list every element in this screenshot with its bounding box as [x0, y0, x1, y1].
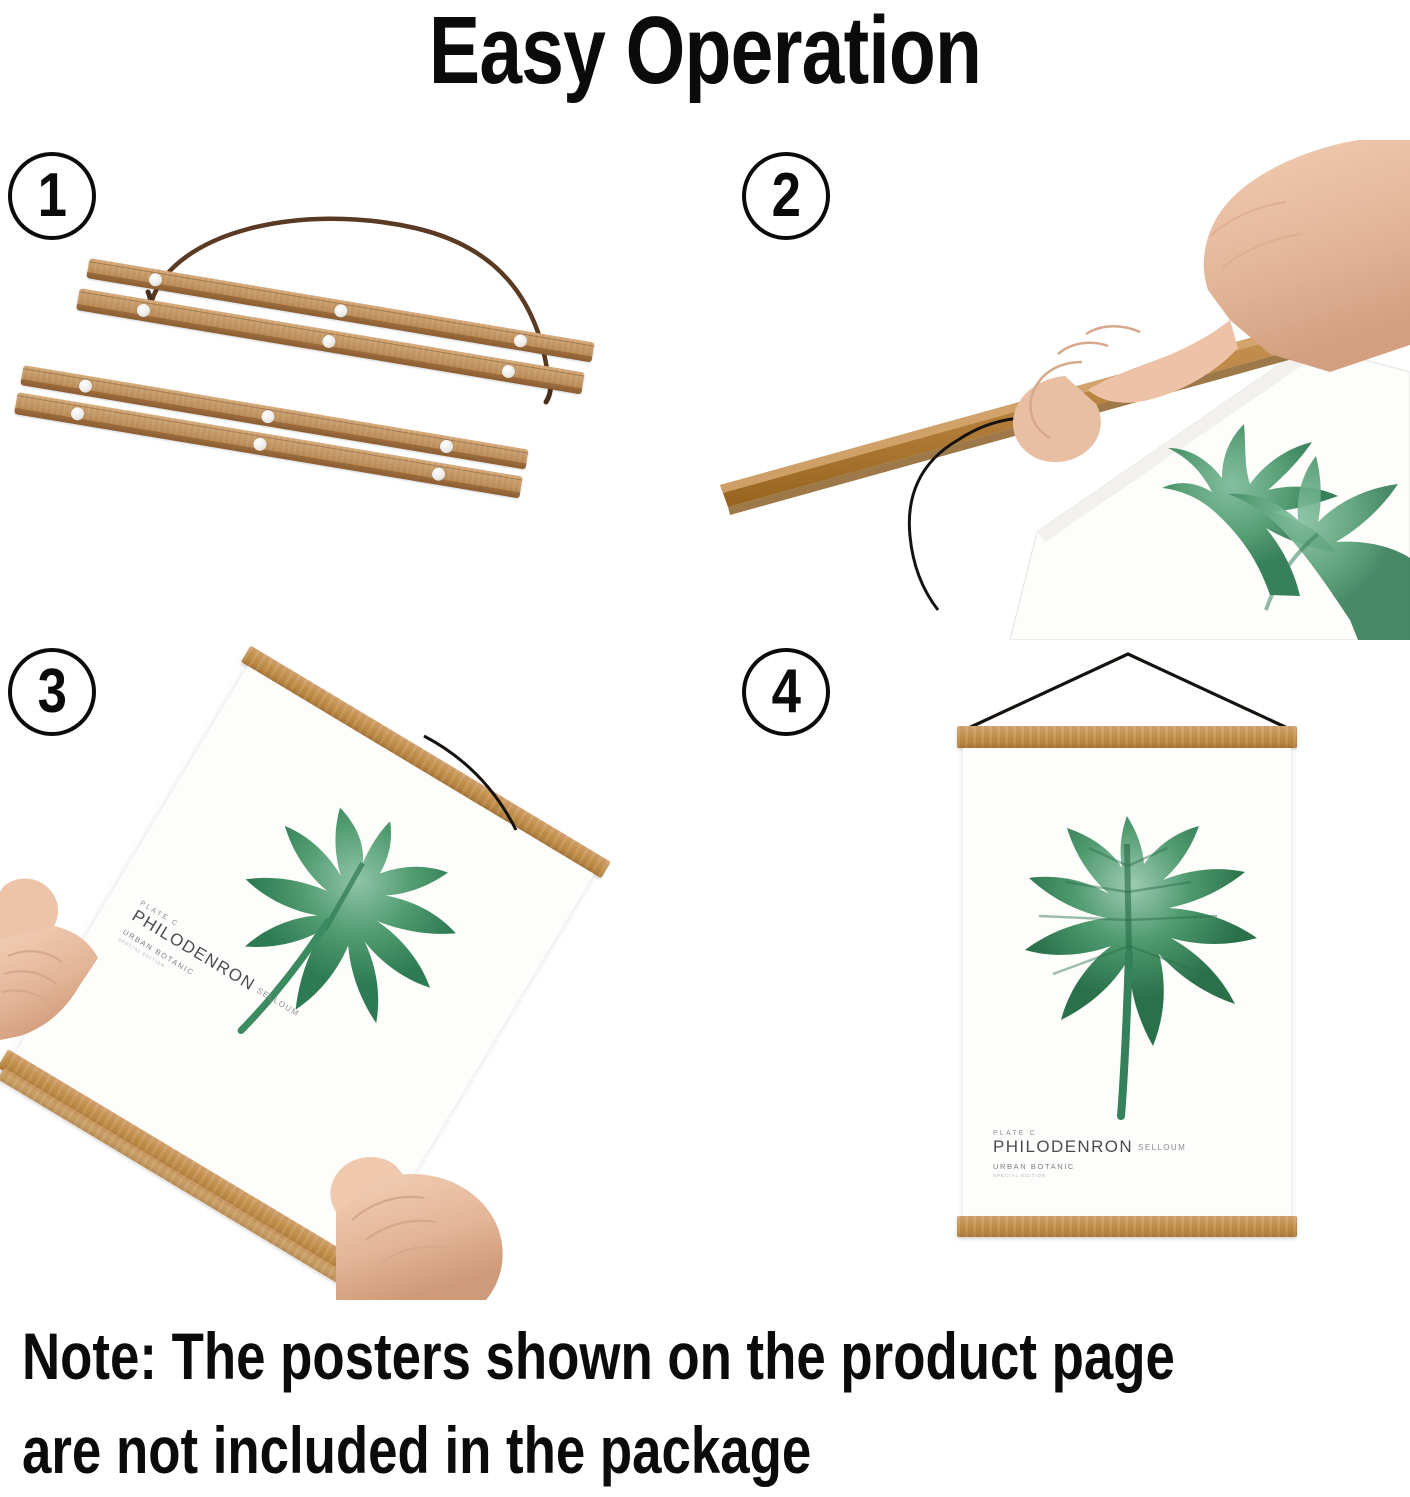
hand-left: [0, 879, 98, 1041]
instruction-infographic: Easy Operation 1: [0, 0, 1410, 1497]
poster-cord: [909, 440, 958, 610]
poster-species: SELLOUM: [1138, 1143, 1186, 1152]
step-2-illustration: [710, 140, 1410, 640]
step-3-illustration: PLATE C PHILODENRONSELLOUM URBAN BOTANIC…: [0, 640, 700, 1300]
poster-bottom-bar: [957, 1216, 1297, 1237]
poster-top-bar: [957, 726, 1297, 748]
step-4-illustration: PLATE C PHILODENRONSELLOUM URBAN BOTANIC…: [710, 640, 1410, 1300]
hand-right: [330, 1157, 502, 1300]
page-title: Easy Operation: [141, 0, 1269, 106]
hands: [0, 640, 700, 1300]
hung-poster-frame: PLATE C PHILODENRONSELLOUM URBAN BOTANIC…: [957, 726, 1297, 1236]
poster-brand: URBAN BOTANIC: [993, 1162, 1186, 1171]
step-2-scene: [710, 140, 1410, 640]
note-line-1: Note: The posters shown on the product p…: [22, 1310, 1126, 1404]
poster-name: PHILODENRON: [993, 1137, 1133, 1157]
note-line-2: are not included in the package: [22, 1404, 1126, 1497]
poster-plate-label: PLATE C: [993, 1130, 1186, 1137]
poster-fine-print: SPECIAL EDITION: [993, 1173, 1186, 1178]
note-block: Note: The posters shown on the product p…: [22, 1310, 1402, 1497]
poster-sheet: PLATE C PHILODENRONSELLOUM URBAN BOTANIC…: [963, 748, 1291, 1216]
step-1-illustration: [0, 140, 700, 640]
poster-caption: PLATE C PHILODENRONSELLOUM URBAN BOTANIC…: [993, 1130, 1186, 1178]
